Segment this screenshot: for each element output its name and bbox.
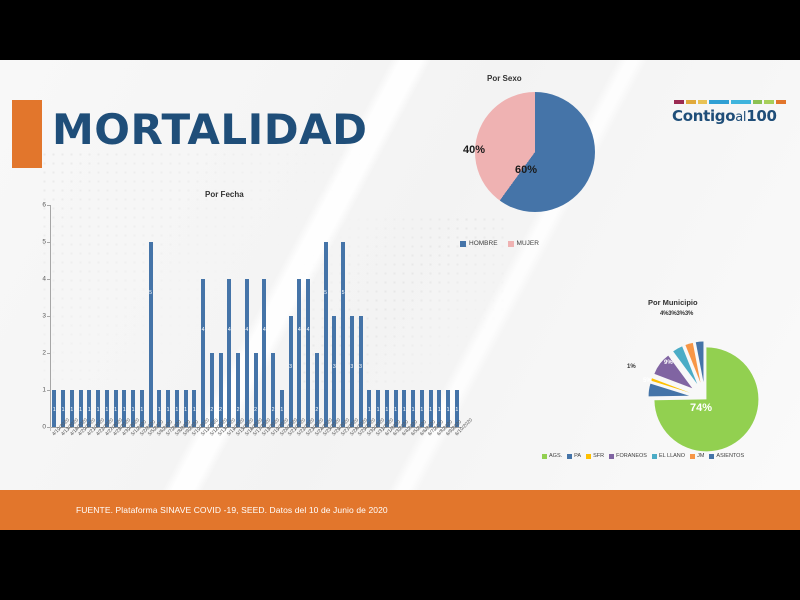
bar-cell: 1 <box>120 205 129 427</box>
legend-swatch <box>709 454 714 459</box>
bar: 4 <box>262 279 266 427</box>
bar-cell: 3 <box>356 205 365 427</box>
x-label-cell: 5/31/2020 <box>374 433 383 478</box>
bar-value-label: 4 <box>263 327 266 333</box>
pie-municipio-slices <box>630 320 780 470</box>
bar-value-label: 1 <box>394 407 397 413</box>
x-label-cell: 5/25/2020 <box>321 433 330 478</box>
bar: 5 <box>149 242 153 427</box>
bar-cell: 1 <box>85 205 94 427</box>
x-label-cell: 5/14/2020 <box>225 433 234 478</box>
bar-value-label: 1 <box>175 407 178 413</box>
bar-cell: 4 <box>225 205 234 427</box>
pie-municipio-label-ags: 74% <box>690 402 712 414</box>
legend-label: FORANEOS <box>616 453 647 459</box>
bar-value-label: 5 <box>324 290 327 296</box>
logo-stripe-6 <box>764 100 774 104</box>
bar-value-label: 1 <box>97 407 100 413</box>
bar-cell: 1 <box>374 205 383 427</box>
logo-stripe-2 <box>698 100 708 104</box>
bar-cell: 1 <box>365 205 374 427</box>
bar-value-label: 2 <box>254 407 257 413</box>
x-label-cell: 5/7/2020 <box>164 433 173 478</box>
bar-value-label: 1 <box>455 407 458 413</box>
bar-cell: 1 <box>164 205 173 427</box>
y-tick-label: 4 <box>42 276 46 283</box>
x-label-cell: 5/30/2020 <box>365 433 374 478</box>
bar: 3 <box>332 316 336 427</box>
bar: 5 <box>341 242 345 427</box>
x-label-cell: 5/23/2020 <box>304 433 313 478</box>
bar: 4 <box>306 279 310 427</box>
x-label-cell: 4/20/2020 <box>76 433 85 478</box>
bar-value-label: 1 <box>280 407 283 413</box>
logo-stripe-1 <box>686 100 696 104</box>
logo-stripe-bar <box>672 100 788 104</box>
legend-item-hombre[interactable]: HOMBRE <box>460 240 498 247</box>
bar-value-label: 1 <box>132 407 135 413</box>
bar: 4 <box>297 279 301 427</box>
x-label-cell: 6/6/2020 <box>418 433 427 478</box>
bar-value-label: 4 <box>307 327 310 333</box>
x-label-cell: 4/10/2020 <box>50 433 59 478</box>
x-label-cell: 4/13/2020 <box>59 433 68 478</box>
bar: 2 <box>315 353 319 427</box>
bar-value-label: 2 <box>272 407 275 413</box>
y-tick-label: 1 <box>42 387 46 394</box>
bar-cell: 1 <box>155 205 164 427</box>
bar-cell: 2 <box>251 205 260 427</box>
bar-cell: 1 <box>111 205 120 427</box>
legend-item-el-llano[interactable]: EL LLANO <box>652 453 685 459</box>
bar-value-label: 4 <box>228 327 231 333</box>
y-tick-label: 0 <box>42 424 46 431</box>
bar-cell: 1 <box>400 205 409 427</box>
bar: 3 <box>359 316 363 427</box>
bar-value-label: 2 <box>219 407 222 413</box>
x-label-cell: 6/9/2020 <box>444 433 453 478</box>
bar-cell: 1 <box>181 205 190 427</box>
legend-label: PA <box>574 453 581 459</box>
pie-municipio-label-pa: 5% <box>643 378 652 384</box>
pie-slice-asientos <box>696 342 704 383</box>
bar-chart-plot-area: 1111111111151111142242424213442535331111… <box>50 205 461 427</box>
bar-value-label: 4 <box>245 327 248 333</box>
x-label-cell: 5/21/2020 <box>286 433 295 478</box>
x-label-cell: 4/28/2020 <box>111 433 120 478</box>
bar-value-label: 1 <box>79 407 82 413</box>
legend-swatch <box>609 454 614 459</box>
bar-value-label: 1 <box>412 407 415 413</box>
bar-value-label: 1 <box>140 407 143 413</box>
legend-item-foraneos[interactable]: FORANEOS <box>609 453 647 459</box>
slide-canvas: MORTALIDAD Contigoal100 Por Fecha 012345… <box>0 0 800 600</box>
bar-cell: 1 <box>409 205 418 427</box>
bar-cell: 1 <box>173 205 182 427</box>
bar-cell: 1 <box>59 205 68 427</box>
bar-cell: 4 <box>260 205 269 427</box>
x-label-cell: 4/27/2020 <box>103 433 112 478</box>
chart-title-por-municipio: Por Municipio <box>648 298 698 307</box>
pie-sexo-legend: HOMBREMUJER <box>460 240 539 247</box>
page-title: MORTALIDAD <box>52 105 367 154</box>
x-label-cell: 5/18/2020 <box>260 433 269 478</box>
bar-cell: 1 <box>103 205 112 427</box>
bar-cell: 4 <box>199 205 208 427</box>
x-label-cell: 5/26/2020 <box>330 433 339 478</box>
legend-item-mujer[interactable]: MUJER <box>508 240 539 247</box>
title-accent-bar <box>12 100 42 168</box>
bar-value-label: 1 <box>447 407 450 413</box>
bar: 2 <box>271 353 275 427</box>
legend-swatch <box>460 241 466 247</box>
bar-value-label: 1 <box>438 407 441 413</box>
bar-value-label: 1 <box>158 407 161 413</box>
logo-wordmark: Contigoal100 <box>672 107 788 125</box>
legend-item-asientos[interactable]: ASIENTOS <box>709 453 744 459</box>
bar-value-label: 1 <box>114 407 117 413</box>
bar-cell: 5 <box>321 205 330 427</box>
x-label-cell: 4/19/2020 <box>68 433 77 478</box>
bar-value-label: 1 <box>53 407 56 413</box>
bar-cell: 2 <box>269 205 278 427</box>
bar-value-label: 2 <box>237 407 240 413</box>
x-label-cell: 5/11/2020 <box>199 433 208 478</box>
bar-cell: 1 <box>418 205 427 427</box>
bar-cell: 4 <box>243 205 252 427</box>
bar-value-label: 1 <box>403 407 406 413</box>
x-label-cell: 5/6/2020 <box>155 433 164 478</box>
x-label-cell: 5/2/2020 <box>138 433 147 478</box>
bar-value-label: 3 <box>350 364 353 370</box>
bar-value-label: 5 <box>342 290 345 296</box>
legend-swatch <box>652 454 657 459</box>
bar-value-label: 1 <box>105 407 108 413</box>
x-label-cell: 6/1/2020 <box>383 433 392 478</box>
x-label-cell: 5/17/2020 <box>251 433 260 478</box>
pie-sexo-label-hombre: 60% <box>515 164 537 176</box>
logo-stripe-4 <box>731 100 751 104</box>
y-tick-label: 3 <box>42 313 46 320</box>
legend-swatch <box>586 454 591 459</box>
bar-value-label: 1 <box>62 407 65 413</box>
bar-cell: 1 <box>278 205 287 427</box>
slide-footer: FUENTE. Plataforma SINAVE COVID -19, SEE… <box>0 490 800 530</box>
bar-cell: 1 <box>190 205 199 427</box>
bar-value-label: 3 <box>333 364 336 370</box>
legend-label: EL LLANO <box>659 453 685 459</box>
x-label-cell: 5/13/2020 <box>216 433 225 478</box>
bar: 5 <box>324 242 328 427</box>
x-label-cell: 5/9/2020 <box>181 433 190 478</box>
bar-cell: 2 <box>313 205 322 427</box>
x-label-cell: 5/28/2020 <box>348 433 357 478</box>
pie-sexo-label-mujer: 40% <box>463 144 485 156</box>
legend-swatch <box>542 454 547 459</box>
x-label-cell: 6/10/2020 <box>453 433 462 478</box>
footer-source-text: FUENTE. Plataforma SINAVE COVID -19, SEE… <box>76 505 388 515</box>
x-label-cell: 5/10/2020 <box>190 433 199 478</box>
legend-label: HOMBRE <box>469 240 498 247</box>
bar-chart-y-axis: 0123456 <box>28 205 50 427</box>
bar-cell: 1 <box>68 205 77 427</box>
bar-value-label: 1 <box>368 407 371 413</box>
chart-title-por-fecha: Por Fecha <box>205 190 244 199</box>
bar-cell: 1 <box>76 205 85 427</box>
pie-municipio-label-foraneos: 9% <box>664 360 673 366</box>
bar-cell: 5 <box>146 205 155 427</box>
x-label-cell: 5/5/2020 <box>146 433 155 478</box>
brand-logo: Contigoal100 <box>672 100 788 125</box>
x-label-cell: 5/27/2020 <box>339 433 348 478</box>
bar-value-label: 1 <box>377 407 380 413</box>
bar: 4 <box>245 279 249 427</box>
bar-value-label: 2 <box>210 407 213 413</box>
x-label-cell: 5/15/2020 <box>234 433 243 478</box>
bar: 3 <box>289 316 293 427</box>
x-label-cell: 5/1/2020 <box>129 433 138 478</box>
legend-item-ags-[interactable]: AGS. <box>542 453 562 459</box>
pie-municipio-legend: AGS.PASFRFORANEOSEL LLANOJMASIENTOS <box>542 453 800 459</box>
bar: 4 <box>227 279 231 427</box>
bar-value-label: 1 <box>193 407 196 413</box>
bar: 2 <box>210 353 214 427</box>
y-tick-label: 5 <box>42 239 46 246</box>
logo-stripe-5 <box>753 100 763 104</box>
pie-chart-por-sexo: 40% 60% HOMBREMUJER <box>430 72 610 262</box>
legend-swatch <box>690 454 695 459</box>
bar-chart-por-fecha: 0123456 11111111111511111422424242134425… <box>28 205 463 475</box>
logo-stripe-3 <box>709 100 729 104</box>
bar-value-label: 1 <box>420 407 423 413</box>
y-tick-label: 6 <box>42 202 46 209</box>
x-label-cell: 4/30/2020 <box>120 433 129 478</box>
pie-municipio-small-labels: 4%3%3%3% <box>660 311 693 317</box>
logo-stripe-7 <box>776 100 786 104</box>
x-label-cell: 5/29/2020 <box>356 433 365 478</box>
bar-value-label: 5 <box>149 290 152 296</box>
bar: 4 <box>201 279 205 427</box>
bar-cell: 1 <box>129 205 138 427</box>
bar-cell: 4 <box>304 205 313 427</box>
legend-label: AGS. <box>549 453 562 459</box>
x-label-cell: 5/20/2020 <box>278 433 287 478</box>
bar-cell: 3 <box>330 205 339 427</box>
bar-cell: 3 <box>286 205 295 427</box>
bar-cell: 2 <box>234 205 243 427</box>
pie-municipio-svg <box>630 320 780 470</box>
x-label-cell: 5/8/2020 <box>173 433 182 478</box>
bar-value-label: 4 <box>298 327 301 333</box>
bar-cell: 1 <box>391 205 400 427</box>
bar-cell: 1 <box>138 205 147 427</box>
x-label-cell: 6/5/2020 <box>409 433 418 478</box>
logo-part-contigo: Contigo <box>672 107 735 125</box>
bar-value-label: 3 <box>359 364 362 370</box>
bar-cell: 4 <box>295 205 304 427</box>
x-label-cell: 5/16/2020 <box>243 433 252 478</box>
x-label-cell: 6/7/2020 <box>426 433 435 478</box>
bar-cell: 2 <box>216 205 225 427</box>
bar-cell: 5 <box>339 205 348 427</box>
pie-sexo-slices <box>475 92 595 212</box>
x-label-cell: 6/8/2020 <box>435 433 444 478</box>
bar: 2 <box>254 353 258 427</box>
x-axis-labels: 4/10/20204/13/20204/19/20204/20/20204/21… <box>50 433 461 478</box>
bar-series: 1111111111151111142242424213442535331111… <box>50 205 461 427</box>
x-label-cell: 5/22/2020 <box>295 433 304 478</box>
legend-label: SFR <box>593 453 604 459</box>
logo-part-100: 100 <box>746 107 776 125</box>
bar: 2 <box>236 353 240 427</box>
x-label-cell: 5/19/2020 <box>269 433 278 478</box>
x-label-cell: 5/12/2020 <box>208 433 217 478</box>
bar-value-label: 4 <box>202 327 205 333</box>
bar-cell: 1 <box>94 205 103 427</box>
pie-chart-por-municipio: Por Municipio 4%3%3%3% 74% 5% 1% 9% AGS.… <box>612 298 800 478</box>
bar-value-label: 3 <box>289 364 292 370</box>
bar-value-label: 1 <box>123 407 126 413</box>
bar-value-label: 1 <box>429 407 432 413</box>
bar-value-label: 1 <box>184 407 187 413</box>
bar-value-label: 1 <box>385 407 388 413</box>
y-tick-label: 2 <box>42 350 46 357</box>
logo-part-al: al <box>735 110 746 125</box>
legend-item-sfr[interactable]: SFR <box>586 453 604 459</box>
bar-value-label: 2 <box>315 407 318 413</box>
legend-label: MUJER <box>517 240 539 247</box>
bar: 1 <box>52 390 56 427</box>
x-label-cell: 5/24/2020 <box>313 433 322 478</box>
legend-swatch <box>508 241 514 247</box>
logo-stripe-0 <box>674 100 684 104</box>
x-label-cell: 4/22/2020 <box>94 433 103 478</box>
legend-item-jm[interactable]: JM <box>690 453 704 459</box>
bar-value-label: 1 <box>70 407 73 413</box>
bar-cell: 1 <box>383 205 392 427</box>
bar-value-label: 1 <box>88 407 91 413</box>
x-label-cell: 6/3/2020 <box>391 433 400 478</box>
bar: 3 <box>350 316 354 427</box>
legend-item-pa[interactable]: PA <box>567 453 581 459</box>
legend-label: JM <box>697 453 704 459</box>
pie-municipio-label-sfr: 1% <box>627 364 636 370</box>
bar-cell: 1 <box>50 205 59 427</box>
bar-cell: 2 <box>208 205 217 427</box>
bar: 2 <box>219 353 223 427</box>
legend-swatch <box>567 454 572 459</box>
bar-value-label: 1 <box>167 407 170 413</box>
x-label-cell: 6/4/2020 <box>400 433 409 478</box>
legend-label: ASIENTOS <box>716 453 744 459</box>
x-label-cell: 4/21/2020 <box>85 433 94 478</box>
bar-cell: 3 <box>348 205 357 427</box>
